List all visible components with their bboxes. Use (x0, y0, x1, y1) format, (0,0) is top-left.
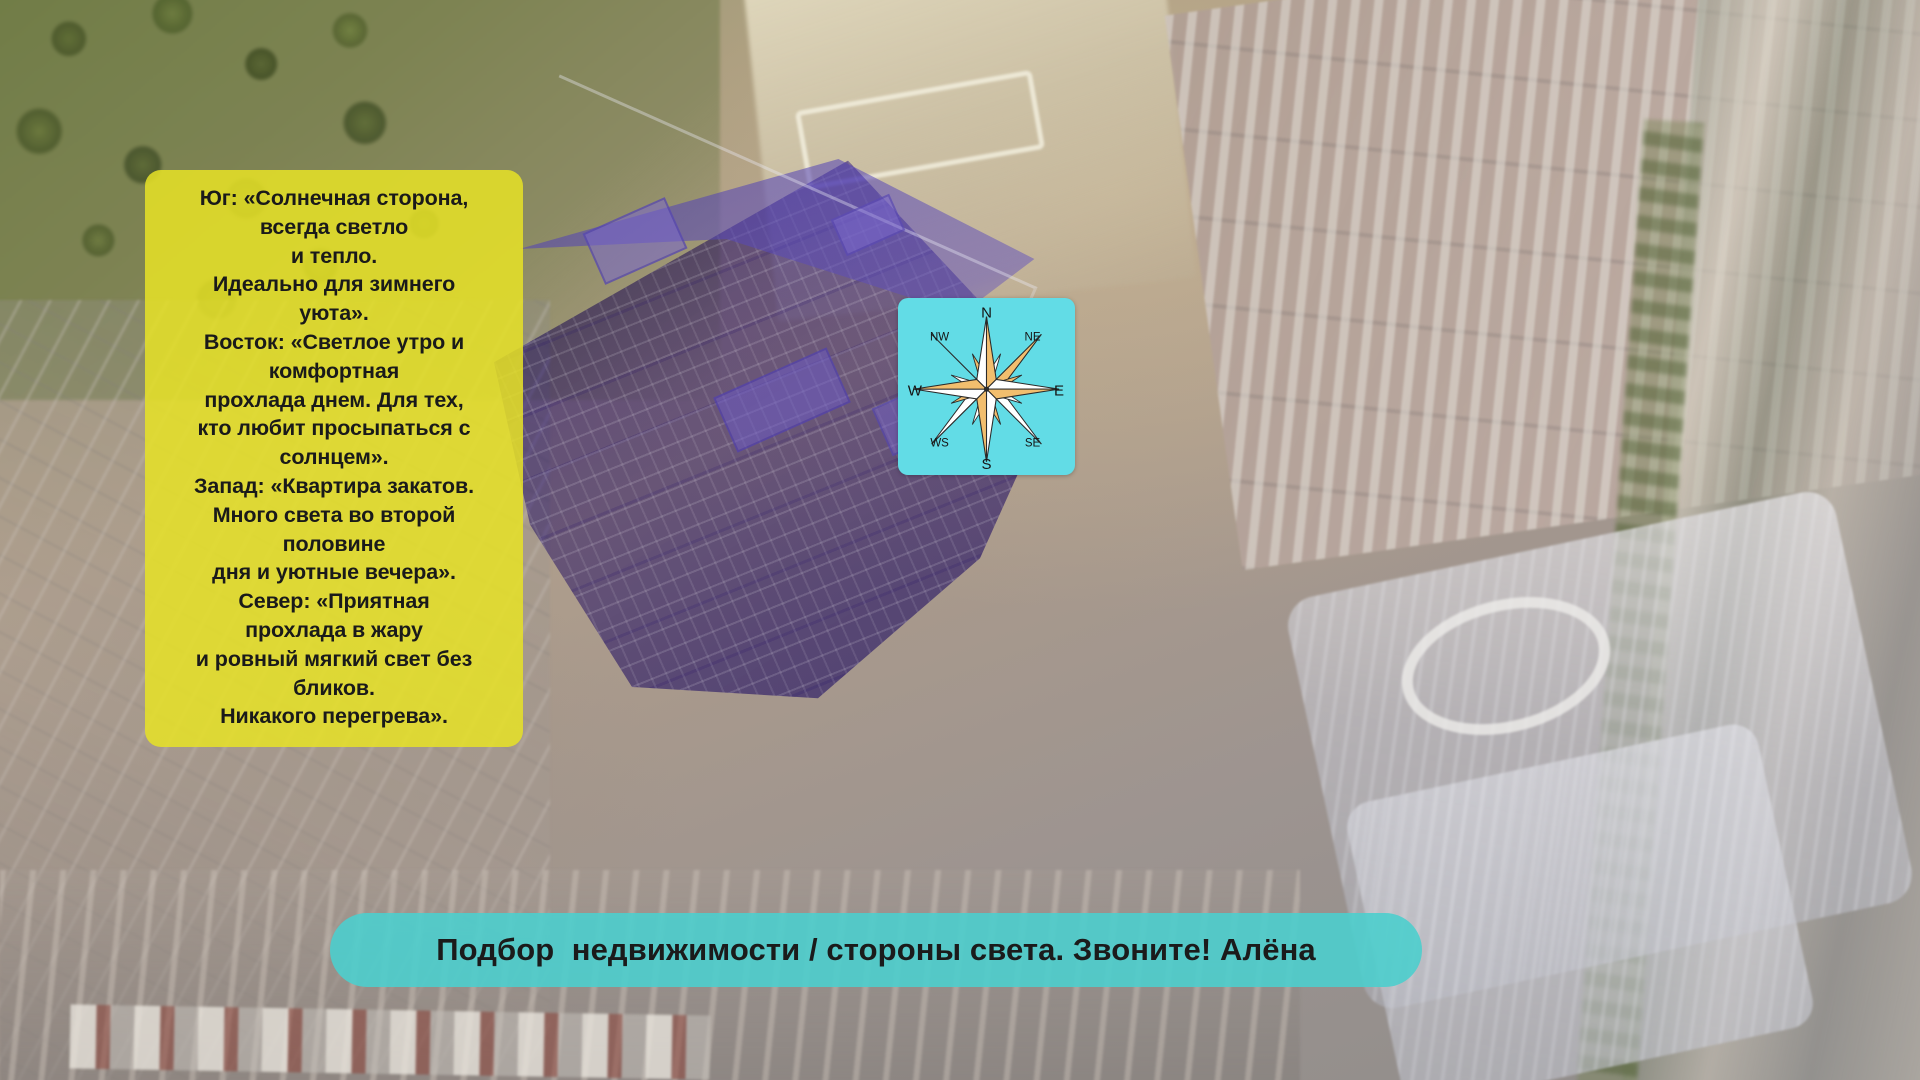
compass-label-s: S (981, 456, 991, 473)
compass-label-n: N (981, 304, 992, 321)
info-line: и ровный мягкий свет без (161, 645, 507, 674)
promo-image-canvas: Юг: «Солнечная сторона, всегда светло и … (0, 0, 1920, 1080)
orientation-info-card: Юг: «Солнечная сторона, всегда светло и … (145, 170, 523, 747)
compass-label-se: SE (1025, 438, 1041, 450)
info-line: кто любит просыпаться с (161, 414, 507, 443)
compass-label-w: W (908, 382, 923, 399)
info-line: Никакого перегрева». (161, 702, 507, 731)
info-line: Идеально для зимнего (161, 270, 507, 299)
info-line: бликов. (161, 674, 507, 703)
call-to-action-banner[interactable]: Подбор недвижимости / стороны света. Зво… (330, 913, 1422, 987)
vehicle-row (69, 1004, 710, 1079)
compass-rose-widget: N E S W NW NE WS SE (898, 298, 1075, 475)
info-line: половине (161, 530, 507, 559)
info-line: Север: «Приятная (161, 587, 507, 616)
compass-label-nw: NW (930, 331, 949, 343)
compass-label-ws: WS (930, 438, 949, 450)
info-line: всегда светло (161, 213, 507, 242)
info-line: уюта». (161, 299, 507, 328)
info-line: и тепло. (161, 242, 507, 271)
compass-rose-icon: N E S W NW NE WS SE (898, 298, 1075, 475)
compass-label-ne: NE (1025, 331, 1041, 343)
banner-text: Подбор недвижимости / стороны света. Зво… (436, 932, 1316, 968)
info-line: солнцем». (161, 443, 507, 472)
info-line: комфортная (161, 357, 507, 386)
compass-label-e: E (1054, 382, 1064, 399)
info-line: Запад: «Квартира закатов. (161, 472, 507, 501)
info-line: прохлада днем. Для тех, (161, 386, 507, 415)
info-line: Восток: «Светлое утро и (161, 328, 507, 357)
info-line: Много света во второй (161, 501, 507, 530)
info-line: Юг: «Солнечная сторона, (161, 184, 507, 213)
info-line: прохлада в жару (161, 616, 507, 645)
info-line: дня и уютные вечера». (161, 558, 507, 587)
